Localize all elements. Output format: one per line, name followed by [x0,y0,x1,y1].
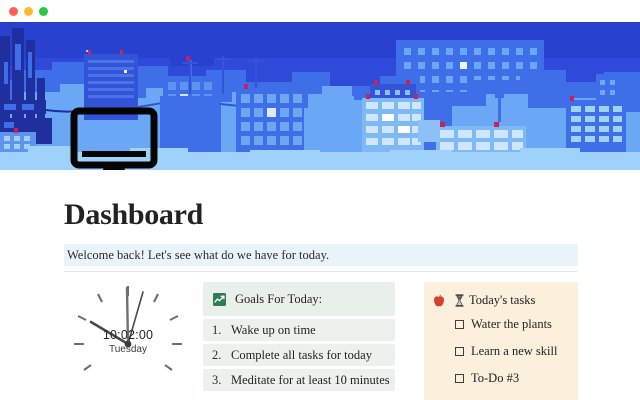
section-divider [64,271,578,272]
tasks-header: Today's tasks [424,291,578,309]
goal-text: Complete all tasks for today [231,348,372,363]
window-maximize-button[interactable] [39,7,48,16]
task-label: Water the plants [471,317,552,332]
goal-list-item[interactable]: 2. Complete all tasks for today [203,344,395,366]
apple-icon [433,294,445,307]
window-titlebar [0,0,640,22]
task-label: Learn a new skill [471,344,557,359]
task-checkbox[interactable] [455,347,464,356]
page-title: Dashboard [64,198,203,232]
window-close-button[interactable] [9,7,18,16]
clock-day-label: Tuesday [64,344,192,355]
goals-header-label: Goals For Today: [235,292,322,307]
widgets-row: 10:02:00 Tuesday Goals For Today: 1. Wak… [0,282,640,400]
page-content: Dashboard Welcome back! Let's see what d… [0,170,640,400]
goal-list-item[interactable]: 1. Wake up on time [203,319,395,341]
window-minimize-button[interactable] [24,7,33,16]
welcome-callout: Welcome back! Let's see what do we have … [64,244,578,266]
task-list-item[interactable]: Learn a new skill [424,340,578,363]
clock-digital-time: 10:02:00 [64,328,192,342]
tasks-title: Today's tasks [469,293,535,308]
goals-widget: Goals For Today: 1. Wake up on time 2. C… [203,282,395,391]
task-list-item[interactable]: Water the plants [424,313,578,336]
hourglass-icon [455,294,464,307]
page-cover-banner [0,22,640,170]
tasks-widget: Today's tasks Water the plants Learn a n… [424,282,578,400]
goals-header: Goals For Today: [203,282,395,316]
goal-list-item[interactable]: 3. Meditate for at least 10 minutes [203,369,395,391]
task-checkbox[interactable] [455,320,464,329]
goal-text: Meditate for at least 10 minutes [231,373,390,388]
desktop-monitor-icon [70,107,158,170]
goal-number: 2. [212,348,231,363]
chart-increasing-icon [213,293,226,306]
task-label: To-Do #3 [471,371,519,386]
goal-text: Wake up on time [231,323,316,338]
clock-widget: 10:02:00 Tuesday [64,282,192,400]
welcome-message: Welcome back! Let's see what do we have … [67,248,329,263]
goal-number: 1. [212,323,231,338]
task-checkbox[interactable] [455,374,464,383]
task-list-item[interactable]: To-Do #3 [424,367,578,390]
goal-number: 3. [212,373,231,388]
